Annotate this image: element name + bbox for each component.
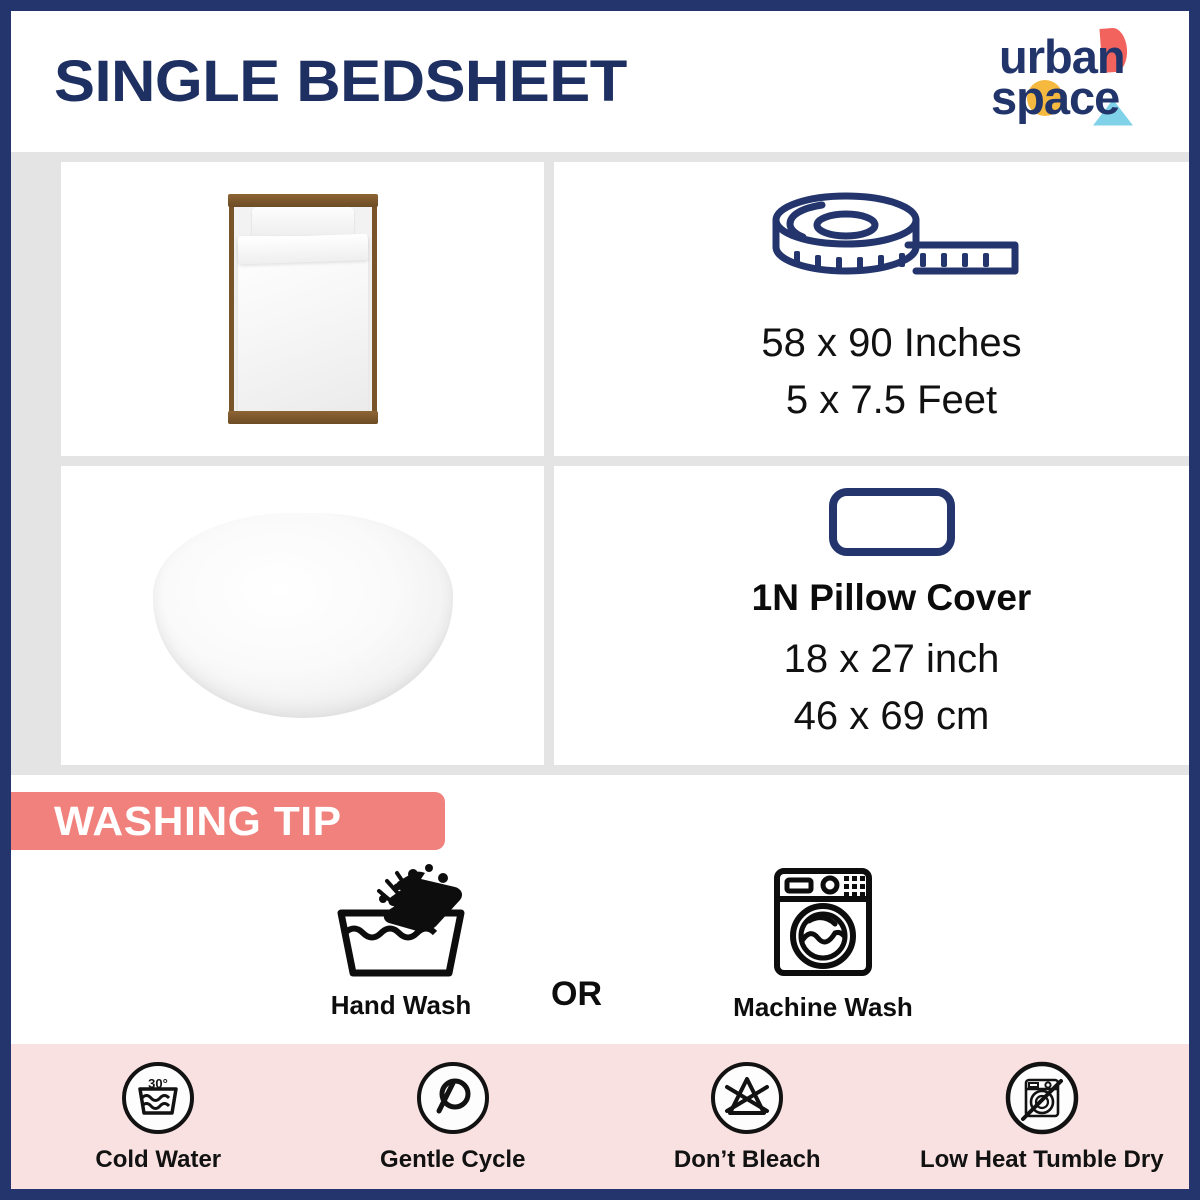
care-item-gentle-cycle: Gentle Cycle [306, 1059, 601, 1174]
washing-tip-label: WASHING TIP [54, 798, 342, 845]
bed-footboard [228, 411, 378, 424]
dimension-inches: 58 x 90 Inches [554, 315, 1200, 372]
bed-image-cell [61, 162, 544, 456]
dimensions-cell: 58 x 90 Inches 5 x 7.5 Feet [554, 162, 1200, 456]
measuring-tape-icon [758, 189, 1026, 293]
bed-headboard [228, 194, 378, 207]
logo-text-space: space [991, 70, 1119, 125]
care-label-dont-bleach: Don’t Bleach [674, 1146, 821, 1174]
care-label-cold-water: Cold Water [95, 1146, 221, 1174]
page-title: SINGLE BEDSHEET [54, 48, 627, 115]
pillow-illustration [153, 513, 453, 718]
machine-wash-option: Machine Wash [701, 863, 945, 1023]
product-infographic: SINGLE BEDSHEET urban space [0, 0, 1200, 1200]
pillow-cover-info: 1N Pillow Cover 18 x 27 inch 46 x 69 cm [554, 487, 1200, 745]
care-item-low-heat-tumble-dry: Low Heat Tumble Dry [895, 1059, 1190, 1174]
care-label-gentle-cycle: Gentle Cycle [380, 1146, 525, 1174]
pillow-image-cell [61, 466, 544, 765]
washing-tip-section: WASHING TIP Hand Wash [11, 775, 1189, 1044]
bed-duvet-fold [237, 234, 368, 265]
header: SINGLE BEDSHEET urban space [11, 11, 1189, 152]
dimensions-info: 58 x 90 Inches 5 x 7.5 Feet [554, 189, 1200, 429]
pillow-cover-outline-icon [828, 487, 956, 557]
pillow-cover-inches: 18 x 27 inch [554, 631, 1200, 688]
dimension-feet: 5 x 7.5 Feet [554, 372, 1200, 429]
care-label-low-heat-tumble-dry: Low Heat Tumble Dry [920, 1146, 1164, 1174]
pillow-cover-cm: 46 x 69 cm [554, 688, 1200, 745]
cold-water-icon: 30° [119, 1059, 197, 1137]
pillow-cover-cell: 1N Pillow Cover 18 x 27 inch 46 x 69 cm [554, 466, 1200, 765]
hand-wash-icon [325, 861, 477, 979]
care-instructions-strip: 30° Cold Water Gentle Cycle Don’t Bleach [11, 1044, 1189, 1189]
hand-wash-label: Hand Wash [279, 990, 523, 1021]
single-bed-illustration [228, 194, 378, 424]
gentle-cycle-icon [414, 1059, 492, 1137]
machine-wash-label: Machine Wash [701, 992, 945, 1023]
hand-wash-option: Hand Wash [279, 861, 523, 1021]
machine-wash-icon [764, 863, 882, 981]
washing-tip-banner: WASHING TIP [11, 792, 445, 850]
pillow-cover-heading: 1N Pillow Cover [554, 577, 1200, 619]
low-heat-tumble-dry-icon [1003, 1059, 1081, 1137]
care-item-dont-bleach: Don’t Bleach [600, 1059, 895, 1174]
wash-separator-label: OR [551, 975, 602, 1014]
brand-logo: urban space [989, 28, 1161, 136]
product-grid: 58 x 90 Inches 5 x 7.5 Feet 1N Pillow Co… [11, 162, 1189, 775]
cold-water-temperature: 30° [148, 1076, 168, 1091]
do-not-bleach-icon [708, 1059, 786, 1137]
care-item-cold-water: 30° Cold Water [11, 1059, 306, 1174]
